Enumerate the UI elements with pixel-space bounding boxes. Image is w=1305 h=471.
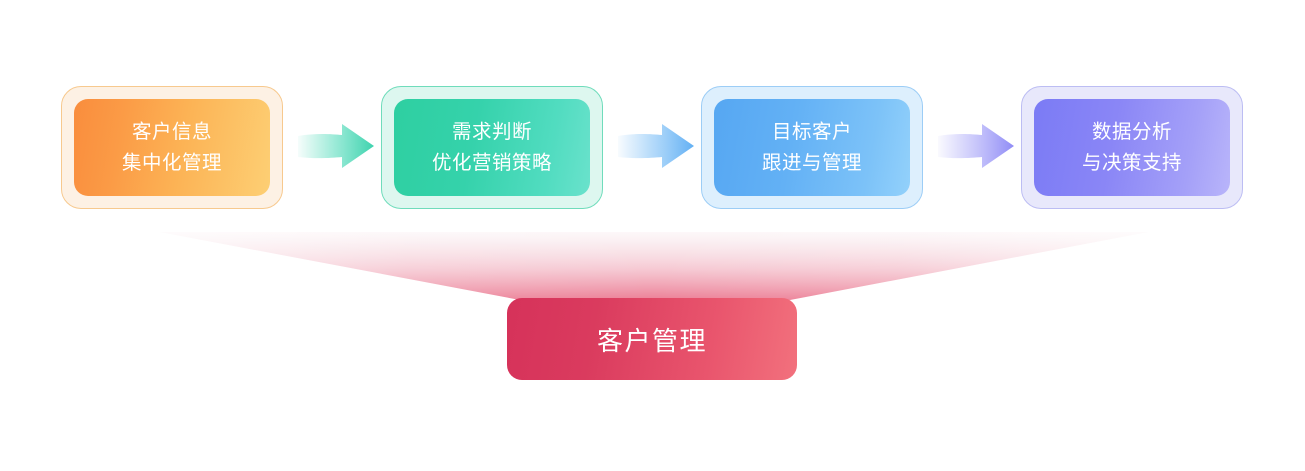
summary-card-customer-management[interactable]: 客户管理 bbox=[507, 298, 797, 380]
stage-card-target-customer[interactable]: 目标客户 跟进与管理 bbox=[701, 86, 923, 209]
stage-card-body: 需求判断 优化营销策略 bbox=[394, 99, 590, 196]
stage-label-line2: 优化营销策略 bbox=[432, 148, 552, 179]
right-arrow-icon bbox=[937, 119, 1015, 175]
stage-label-line1: 客户信息 bbox=[132, 117, 212, 148]
stage-card-body: 目标客户 跟进与管理 bbox=[714, 99, 910, 196]
right-arrow-icon bbox=[297, 119, 375, 175]
funnel-shape bbox=[0, 0, 1305, 471]
stage-label-line1: 目标客户 bbox=[772, 117, 852, 148]
stage-label-line2: 集中化管理 bbox=[122, 148, 222, 179]
stage-label-line2: 与决策支持 bbox=[1082, 148, 1182, 179]
stage-label-line1: 数据分析 bbox=[1092, 117, 1172, 148]
stage-label-line2: 跟进与管理 bbox=[762, 148, 862, 179]
stage-card-customer-info[interactable]: 客户信息 集中化管理 bbox=[61, 86, 283, 209]
stage-card-body: 客户信息 集中化管理 bbox=[74, 99, 270, 196]
stage-card-demand-analysis[interactable]: 需求判断 优化营销策略 bbox=[381, 86, 603, 209]
right-arrow-icon bbox=[617, 119, 695, 175]
summary-card-label: 客户管理 bbox=[597, 321, 707, 358]
customer-management-flow-diagram: 客户信息 集中化管理 需求判断 优化营销策略 目标客户 跟进与管理 数据分析 与… bbox=[0, 0, 1305, 471]
stage-card-data-analysis[interactable]: 数据分析 与决策支持 bbox=[1021, 86, 1243, 209]
stage-label-line1: 需求判断 bbox=[452, 117, 532, 148]
stage-card-body: 数据分析 与决策支持 bbox=[1034, 99, 1230, 196]
